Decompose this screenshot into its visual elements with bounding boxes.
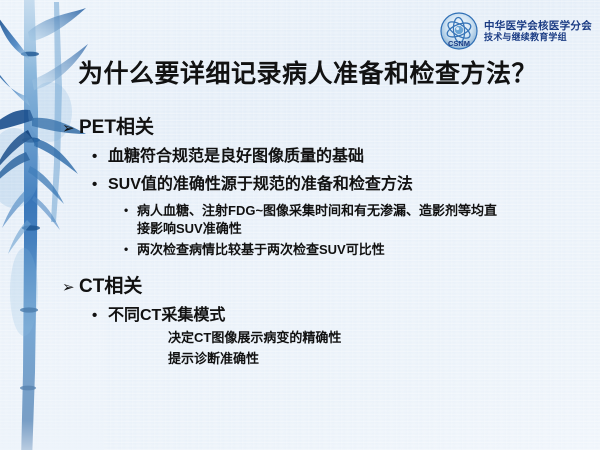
outline-level2-label: SUV值的准确性源于规范的准备和检查方法	[108, 170, 413, 194]
outline-level3-label: 两次检查病情比较基于两次检查SUV可比性	[137, 241, 385, 259]
logo-text-block: 中华医学会核医学分会 技术与继续教育学组	[484, 20, 592, 43]
outline-level3-label: 病人血糖、注射FDG~图像采集时间和有无渗漏、造影剂等均直接影响SUV准确性	[137, 202, 509, 239]
logo-line-2: 技术与继续教育学组	[484, 32, 592, 43]
slide-canvas: CSNM 中华医学会核医学分会 技术与继续教育学组 为什么要详细记录病人准备和检…	[0, 0, 600, 450]
outline-level1-ct-label: CT相关	[79, 271, 142, 298]
spacer	[62, 261, 592, 271]
csnm-atom-emblem-icon: CSNM	[439, 11, 479, 51]
organization-logo: CSNM 中华医学会核医学分会 技术与继续教育学组	[439, 10, 592, 52]
dot-bullet-icon: •	[124, 241, 137, 258]
arrow-bullet-icon: ➢	[62, 278, 79, 296]
outline-level3-item: • 两次检查病情比较基于两次检查SUV可比性	[124, 241, 592, 259]
outline-level2-item: • 不同CT采集模式	[92, 301, 592, 325]
outline-level2-label: 不同CT采集模式	[108, 301, 225, 325]
outline-plain-line: 决定CT图像展示病变的精确性	[168, 329, 592, 348]
logo-line-1: 中华医学会核医学分会	[484, 20, 592, 32]
slide-title: 为什么要详细记录病人准备和检查方法？	[78, 54, 578, 90]
outline-level1-ct: ➢ CT相关	[62, 271, 592, 298]
dot-bullet-icon: •	[92, 177, 108, 192]
outline-level2-item: • SUV值的准确性源于规范的准备和检查方法	[92, 170, 592, 194]
outline-level2-item: • 血糖符合规范是良好图像质量的基础	[92, 142, 592, 166]
outline-level3-item: • 病人血糖、注射FDG~图像采集时间和有无渗漏、造影剂等均直接影响SUV准确性	[124, 202, 592, 239]
dot-bullet-icon: •	[92, 308, 108, 323]
arrow-bullet-icon: ➢	[62, 119, 79, 137]
outline-level2-label: 血糖符合规范是良好图像质量的基础	[108, 142, 364, 166]
dot-bullet-icon: •	[124, 202, 137, 219]
outline-level1-pet: ➢ PET相关	[62, 112, 592, 139]
dot-bullet-icon: •	[92, 149, 108, 164]
emblem-label: CSNM	[448, 39, 470, 48]
slide-body: ➢ PET相关 • 血糖符合规范是良好图像质量的基础 • SUV值的准确性源于规…	[62, 112, 592, 371]
outline-plain-line: 提示诊断准确性	[168, 350, 592, 369]
outline-level1-pet-label: PET相关	[79, 112, 154, 139]
